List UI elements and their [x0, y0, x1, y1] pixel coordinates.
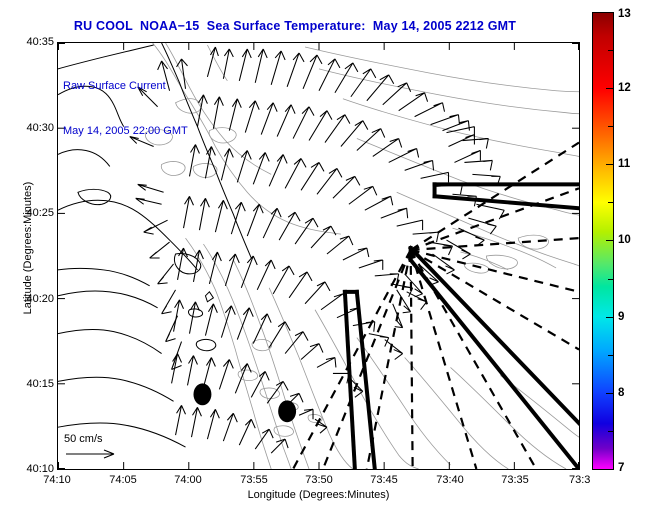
annotation-line-1: Raw Surface Current [63, 79, 188, 94]
x-tick-label: 74:05 [109, 474, 137, 486]
x-tick-label: 74:10 [43, 474, 71, 486]
colorbar-tick-label: 7 [618, 462, 624, 474]
colorbar-tick-label: 8 [618, 387, 624, 399]
x-axis-label: Longitude (Degrees:Minutes) [57, 489, 580, 501]
colorbar-tick-label: 9 [618, 311, 624, 323]
sst-current-map-figure: RU COOL NOAA−15 Sea Surface Temperature:… [0, 0, 651, 515]
colorbar-tick-label: 10 [618, 234, 631, 246]
colorbar-ticks: 13 12 11 10 9 8 7 [592, 12, 651, 470]
y-axis-label: Latitude (Degrees:Minutes) [22, 158, 34, 338]
vector-scale-label: 50 cm/s [64, 433, 120, 445]
x-tick-label: 73:50 [305, 474, 333, 486]
colorbar-tick-label: 11 [618, 158, 630, 170]
vector-scale-legend: 50 cm/s [64, 433, 120, 466]
colorbar-tick-label: 12 [618, 82, 631, 94]
x-tick-label: 74:00 [174, 474, 202, 486]
annotation-line-2: May 14, 2005 22:00 GMT [63, 124, 188, 139]
x-tick-label: 73:45 [370, 474, 398, 486]
plot-annotation: Raw Surface Current May 14, 2005 22:00 G… [63, 49, 188, 169]
x-tick-label: 73:35 [501, 474, 529, 486]
x-tick-label: 73:40 [436, 474, 464, 486]
right-arrow-icon [64, 447, 120, 466]
x-tick-label: 73:3 [569, 474, 590, 486]
colorbar-tick-label: 13 [618, 8, 631, 20]
x-tick-label: 73:55 [240, 474, 268, 486]
